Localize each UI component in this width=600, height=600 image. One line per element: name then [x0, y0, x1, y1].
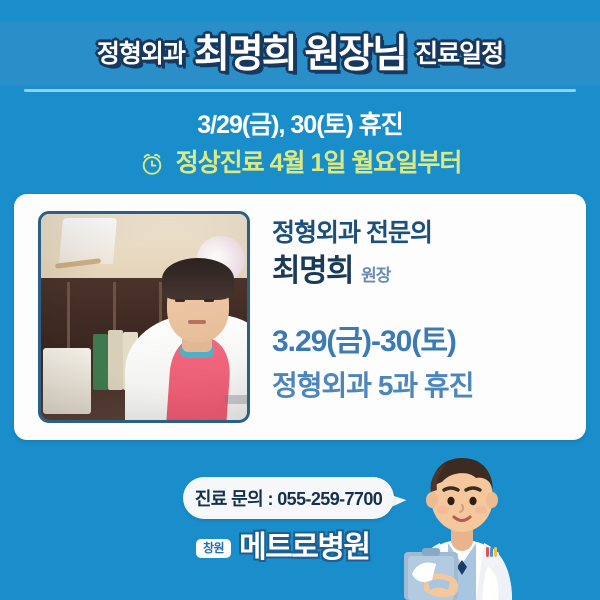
card-date-range: 3.29(금)-30(토): [272, 324, 572, 360]
brand-row: 창원 메트로병원: [196, 533, 370, 563]
subtitle-resume-text: 정상진료 4월 1일 월요일부터: [176, 148, 462, 179]
card-name-row: 최명희 원장: [272, 252, 572, 289]
phone-bubble[interactable]: 진료 문의 : 055-259-7700: [183, 477, 394, 519]
title-prefix: 정형외과: [97, 42, 185, 67]
doctor-portrait-photo: [38, 211, 250, 423]
card-text-column: 정형외과 전문의 최명희 원장 3.29(금)-30(토) 정형외과 5과 휴진: [272, 218, 572, 403]
title-divider: [24, 89, 576, 92]
cartoon-doctor-illustration: [388, 448, 553, 600]
subtitle-closed-days: 3/29(금), 30(토) 휴진: [0, 110, 600, 141]
subtitle-resume-row: 정상진료 4월 1일 월요일부터: [0, 148, 600, 179]
alarm-clock-icon: [139, 151, 165, 177]
title-banner: 정형외과 최명희 원장님 진료일정: [0, 22, 600, 86]
card-specialty: 정형외과 전문의: [272, 218, 572, 248]
card-doctor-name: 최명희: [272, 252, 353, 289]
phone-label: 진료 문의 : 055-259-7700: [195, 485, 382, 511]
poster-root: 정형외과 최명희 원장님 진료일정 3/29(금), 30(토) 휴진 정상진료…: [0, 0, 600, 600]
card-notice: 정형외과 5과 휴진: [272, 369, 572, 403]
brand-region-badge: 창원: [196, 539, 231, 558]
title-main: 최명희 원장님: [194, 35, 406, 74]
title-suffix: 진료일정: [415, 42, 503, 67]
card-doctor-title: 원장: [361, 261, 390, 286]
info-card: 정형외과 전문의 최명희 원장 3.29(금)-30(토) 정형외과 5과 휴진: [14, 194, 586, 440]
subtitle-block: 3/29(금), 30(토) 휴진 정상진료 4월 1일 월요일부터: [0, 110, 600, 180]
brand-hospital-name: 메트로병원: [239, 533, 370, 563]
